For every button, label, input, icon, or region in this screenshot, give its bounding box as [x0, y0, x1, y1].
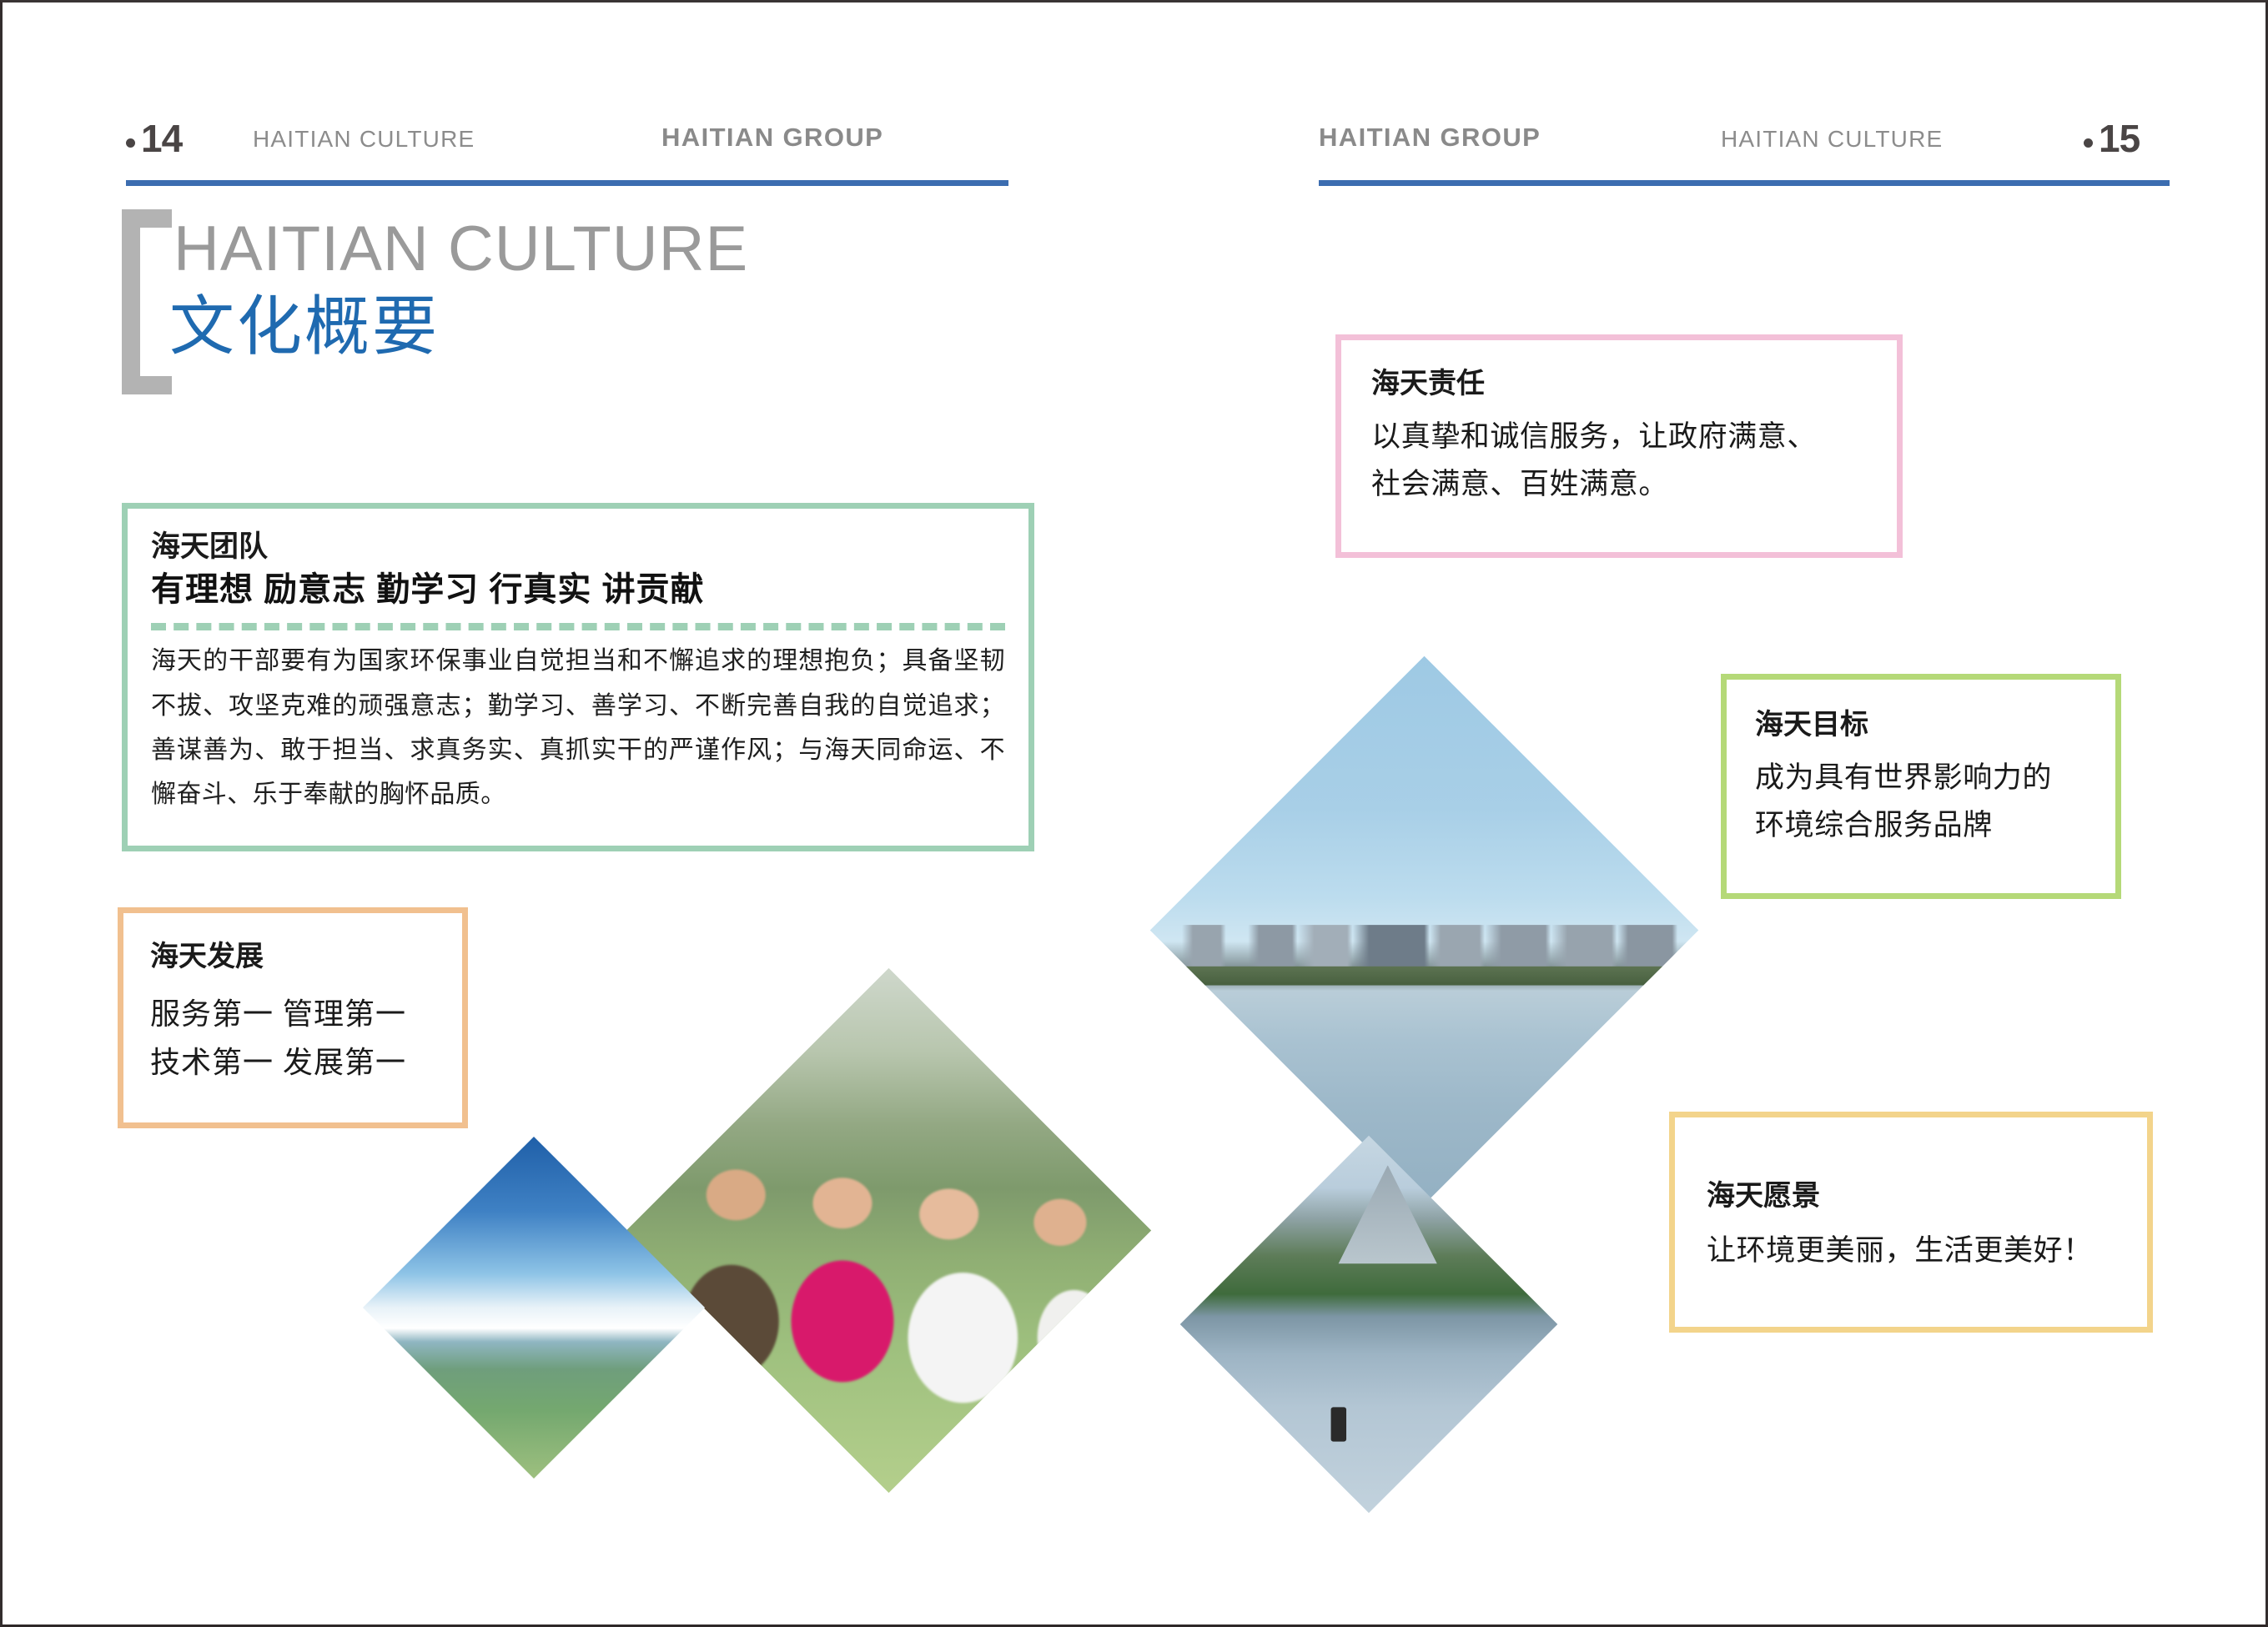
left-page-number-value: 14 — [141, 117, 182, 160]
team-box-dashed-divider — [151, 623, 1005, 630]
title-bracket-ornament — [122, 209, 172, 394]
family-outdoors-photo-image — [626, 968, 1151, 1493]
city-skyline-lake-photo — [1150, 656, 1699, 1205]
responsibility-box-line-2: 社会满意、百姓满意。 — [1371, 461, 1897, 509]
aerial-city-landscape-photo — [363, 1137, 705, 1479]
left-header-rule — [126, 180, 1008, 186]
page-title-english: HAITIAN CULTURE — [173, 218, 748, 281]
vision-box: 海天愿景 让环境更美丽，生活更美好！ — [1669, 1112, 2153, 1333]
responsibility-box: 海天责任 以真挚和诚信服务，让政府满意、 社会满意、百姓满意。 — [1335, 334, 1903, 558]
vision-box-line-1: 让环境更美丽，生活更美好！ — [1707, 1228, 2147, 1274]
left-header-culture-label: HAITIAN CULTURE — [253, 128, 475, 151]
development-box-line-1: 服务第一 管理第一 — [150, 990, 462, 1038]
development-box: 海天发展 服务第一 管理第一 技术第一 发展第一 — [118, 907, 468, 1128]
left-header-group-label: HAITIAN GROUP — [661, 124, 883, 150]
right-header-culture-label: HAITIAN CULTURE — [1721, 128, 1943, 151]
left-page-number: 14 — [126, 119, 182, 158]
aerial-city-landscape-photo-image — [363, 1137, 705, 1479]
team-culture-box: 海天团队 有理想 励意志 勤学习 行真实 讲贡献 海天的干部要有为国家环保事业自… — [122, 503, 1034, 851]
responsibility-box-line-1: 以真挚和诚信服务，让政府满意、 — [1371, 414, 1897, 461]
team-box-title: 海天团队 — [151, 527, 1005, 566]
goal-box-title: 海天目标 — [1755, 706, 2115, 745]
development-box-line-2: 技术第一 发展第一 — [150, 1038, 462, 1087]
goal-box: 海天目标 成为具有世界影响力的 环境综合服务品牌 — [1721, 674, 2121, 899]
river-karst-raft-photo-image — [1180, 1136, 1558, 1514]
right-page-number-value: 15 — [2099, 117, 2140, 160]
page-title-chinese: 文化概要 — [169, 286, 440, 368]
brochure-spread: 14 HAITIAN CULTURE HAITIAN GROUP HAITIAN… — [0, 0, 2268, 1627]
right-header-group-label: HAITIAN GROUP — [1319, 124, 1541, 150]
team-box-motto: 有理想 励意志 勤学习 行真实 讲贡献 — [151, 568, 1005, 611]
responsibility-box-title: 海天责任 — [1371, 365, 1897, 404]
vision-box-title: 海天愿景 — [1707, 1178, 2147, 1216]
page-number-dot-icon — [126, 138, 135, 148]
river-karst-raft-photo — [1180, 1136, 1558, 1514]
goal-box-line-2: 环境综合服务品牌 — [1755, 802, 2115, 850]
city-skyline-lake-photo-image — [1150, 656, 1699, 1205]
family-outdoors-photo — [626, 968, 1151, 1493]
right-header-rule — [1319, 180, 2170, 186]
team-box-paragraph: 海天的干部要有为国家环保事业自觉担当和不懈追求的理想抱负；具备坚韧不拔、攻坚克难… — [151, 639, 1005, 817]
right-page-number: 15 — [2084, 119, 2140, 158]
goal-box-line-1: 成为具有世界影响力的 — [1755, 755, 2115, 802]
development-box-title: 海天发展 — [150, 938, 462, 977]
page-number-dot-icon — [2084, 138, 2093, 148]
